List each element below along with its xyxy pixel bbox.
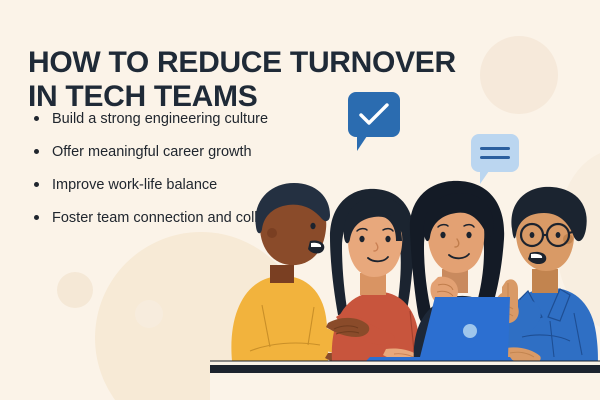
list-item: Build a strong engineering culture <box>30 110 320 129</box>
team-illustration <box>210 165 600 400</box>
bullet-dot-icon <box>34 116 39 121</box>
check-icon <box>359 103 389 127</box>
person-blue-shirt <box>494 187 598 363</box>
bullet-dot-icon <box>34 215 39 220</box>
person-orange-top <box>326 189 420 363</box>
lines-icon <box>480 147 510 150</box>
page-title-line-1: HOW TO REDUCE TURNOVER <box>28 46 456 79</box>
page-title-line-2: IN TECH TEAMS <box>28 80 498 114</box>
bullet-dot-icon <box>34 149 39 154</box>
team-illustration-svg <box>210 165 600 400</box>
list-item-label: Improve work-life balance <box>52 177 217 193</box>
check-speech-bubble <box>348 92 400 137</box>
list-item: Offer meaningful career growth <box>30 143 320 162</box>
list-item-label: Offer meaningful career growth <box>52 144 252 160</box>
background-circle-faint <box>135 300 163 328</box>
check-bubble-tail <box>357 136 376 151</box>
background-circle-small-left <box>57 272 93 308</box>
list-item-label: Build a strong engineering culture <box>52 111 268 127</box>
check-bubble-body <box>348 92 400 137</box>
poster-canvas: HOW TO REDUCE TURNOVER IN TECH TEAMS Bui… <box>0 0 600 400</box>
table <box>210 361 600 400</box>
lines-icon <box>480 156 510 159</box>
bullet-dot-icon <box>34 182 39 187</box>
page-title: HOW TO REDUCE TURNOVER IN TECH TEAMS <box>28 46 498 114</box>
